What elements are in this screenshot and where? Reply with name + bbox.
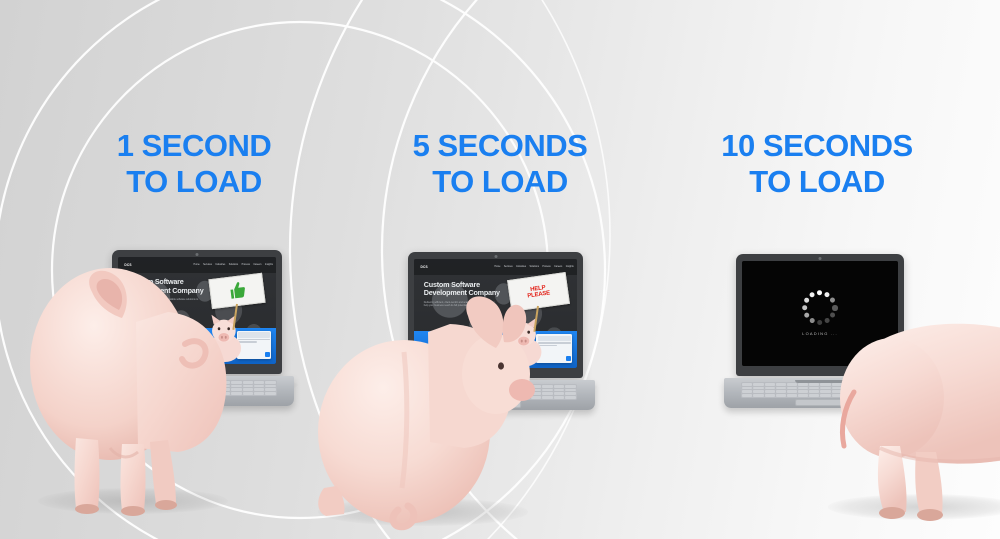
pig-walking-away (820, 280, 1000, 520)
heading-panel-2: 5 SECONDS TO LOAD (366, 128, 634, 200)
chat-widget-send-button[interactable] (265, 352, 270, 357)
webcam-icon-2 (494, 255, 497, 258)
pig-sitting-waiting (300, 282, 530, 527)
heading-line-2: TO LOAD (678, 164, 956, 200)
heading-line-1: 10 SECONDS (678, 128, 956, 164)
nav-item-careers[interactable]: Careers (554, 266, 562, 268)
webcam-icon-3 (819, 257, 822, 260)
nav-item-industries[interactable]: Industries (516, 266, 526, 268)
nav-item-careers[interactable]: Careers (253, 264, 261, 266)
heading-line-1: 5 SECONDS (366, 128, 634, 164)
nav-item-insights[interactable]: Insights (566, 266, 574, 268)
website-nav-links-2: Home Services Industries Solutions Proce… (494, 265, 570, 269)
pig-happy-standing (18, 252, 248, 512)
nav-item-solutions[interactable]: Solutions (530, 266, 539, 268)
chat-widget-send-button[interactable] (566, 356, 571, 361)
nav-item-insights[interactable]: Insights (265, 264, 273, 266)
heading-line-2: TO LOAD (60, 164, 328, 200)
nav-item-home[interactable]: Home (494, 266, 500, 268)
heading-line-1: 1 SECOND (60, 128, 328, 164)
placard-text-line-2: PLEASE (527, 291, 550, 300)
nav-item-services[interactable]: Services (504, 266, 513, 268)
heading-panel-3: 10 SECONDS TO LOAD (678, 128, 956, 200)
infographic-canvas: 1 SECOND TO LOAD DCS Home Services Indus… (0, 0, 1000, 539)
nav-item-process[interactable]: Process (542, 266, 550, 268)
heading-panel-1: 1 SECOND TO LOAD (60, 128, 328, 200)
website-logo-2[interactable]: DCS (421, 265, 428, 269)
heading-line-2: TO LOAD (366, 164, 634, 200)
